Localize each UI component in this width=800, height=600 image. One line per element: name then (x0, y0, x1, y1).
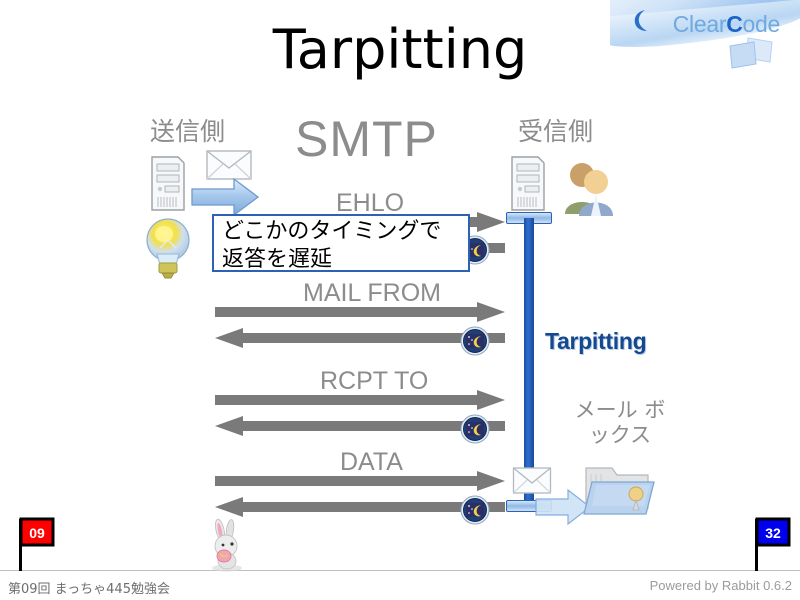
current-page-flag: 09 (14, 517, 56, 572)
logo-text-c: C (726, 11, 742, 37)
current-page-number: 09 (29, 525, 45, 541)
protocol-title: SMTP (295, 110, 438, 168)
rabbit-mascot-icon (204, 518, 250, 572)
delay-callout-text: どこかのタイミングで 返答を遅延 (222, 218, 462, 274)
total-page-number: 32 (765, 525, 781, 541)
sender-side-label: 送信側 (150, 112, 225, 148)
users-group-icon (560, 160, 620, 216)
smtp-tarpitting-diagram: 送信側 受信側 SMTP (0, 0, 800, 520)
crescent-moon-icon (632, 9, 650, 32)
tarpit-annotation: Tarpitting (545, 328, 646, 355)
logo-text-ode: ode (743, 11, 780, 37)
mailbox-label: メール ボックス (570, 398, 670, 448)
mail-folder-icon (582, 462, 658, 520)
logo-wordmark: ClearCode (673, 11, 780, 38)
total-pages-flag: 32 (750, 517, 792, 572)
sleep-moon-icon (460, 495, 490, 525)
stacked-pages-icon (726, 36, 778, 70)
footer-event-name: 第09回 まっちゃ445勉強会 (8, 578, 170, 597)
request-arrow-mail-from (215, 302, 505, 322)
logo-text-clear: Clear (673, 11, 726, 37)
receiver-side-label: 受信側 (518, 112, 593, 148)
request-arrow-data (215, 471, 505, 491)
server-tower-icon (148, 152, 188, 214)
footer-powered-by: Powered by Rabbit 0.6.2 (650, 578, 792, 593)
sleep-moon-icon (460, 326, 490, 356)
request-arrow-rcpt-to (215, 390, 505, 410)
delay-callout-box: どこかのタイミングで 返答を遅延 (212, 214, 470, 272)
footer-divider (0, 570, 800, 571)
server-tower-icon (508, 152, 548, 214)
lightbulb-icon (142, 216, 198, 280)
sleep-moon-icon (460, 414, 490, 444)
